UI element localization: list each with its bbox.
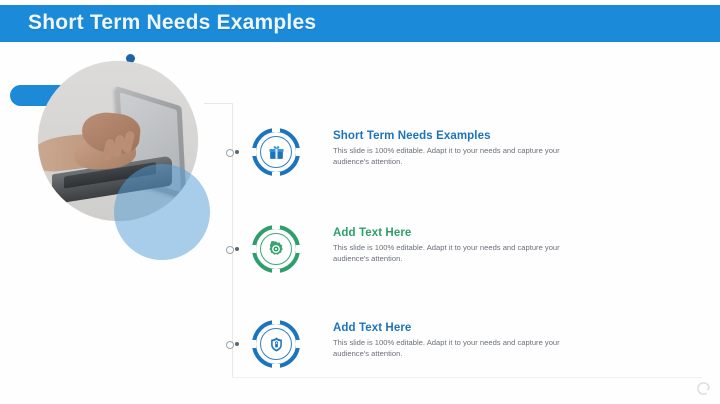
node-dot-icon (235, 150, 239, 154)
icon-ring-gap (296, 245, 302, 253)
list-item[interactable]: Add Text Here This slide is 100% editabl… (250, 223, 700, 293)
page-title: Short Term Needs Examples (28, 11, 316, 35)
shield-icon[interactable] (250, 318, 302, 370)
connector-node (226, 149, 239, 156)
list-item-text: Add Text Here This slide is 100% editabl… (333, 227, 693, 264)
icon-ring-gap (272, 318, 280, 324)
visual-group (0, 46, 230, 261)
target-icon[interactable] (250, 223, 302, 275)
list-item[interactable]: Short Term Needs Examples This slide is … (250, 126, 700, 196)
shield-glyph (260, 328, 292, 360)
list-item-text: Short Term Needs Examples This slide is … (333, 130, 693, 167)
list-item-heading: Add Text Here (333, 227, 693, 239)
node-dot-icon (235, 342, 239, 346)
list-item-heading: Add Text Here (333, 322, 693, 334)
icon-ring-gap (296, 148, 302, 156)
icon-ring-gap (272, 269, 280, 275)
list-item-body: This slide is 100% editable. Adapt it to… (333, 337, 583, 359)
circular-logo-watermark (696, 381, 711, 396)
target-glyph (260, 233, 292, 265)
icon-ring-gap (272, 172, 280, 178)
list-item-text: Add Text Here This slide is 100% editabl… (333, 322, 693, 359)
icon-ring-gap (250, 148, 256, 156)
slide-canvas: Short Term Needs Examples (0, 0, 720, 404)
node-ring-icon (226, 149, 234, 157)
icon-ring-gap (250, 340, 256, 348)
icon-ring-gap (272, 126, 280, 132)
connector-line-vertical (232, 103, 233, 377)
node-ring-icon (226, 341, 234, 349)
connector-line-top (204, 103, 233, 104)
list-item[interactable]: Add Text Here This slide is 100% editabl… (250, 318, 700, 388)
icon-ring-gap (296, 340, 302, 348)
icon-ring-gap (272, 223, 280, 229)
list-item-body: This slide is 100% editable. Adapt it to… (333, 242, 583, 264)
list-item-body: This slide is 100% editable. Adapt it to… (333, 145, 583, 167)
list-item-heading: Short Term Needs Examples (333, 130, 693, 142)
icon-ring-gap (250, 245, 256, 253)
connector-node (226, 246, 239, 253)
gift-icon[interactable] (250, 126, 302, 178)
node-ring-icon (226, 246, 234, 254)
gift-glyph (260, 136, 292, 168)
accent-circle (114, 164, 210, 260)
icon-ring-gap (272, 364, 280, 370)
node-dot-icon (235, 247, 239, 251)
connector-node (226, 341, 239, 348)
